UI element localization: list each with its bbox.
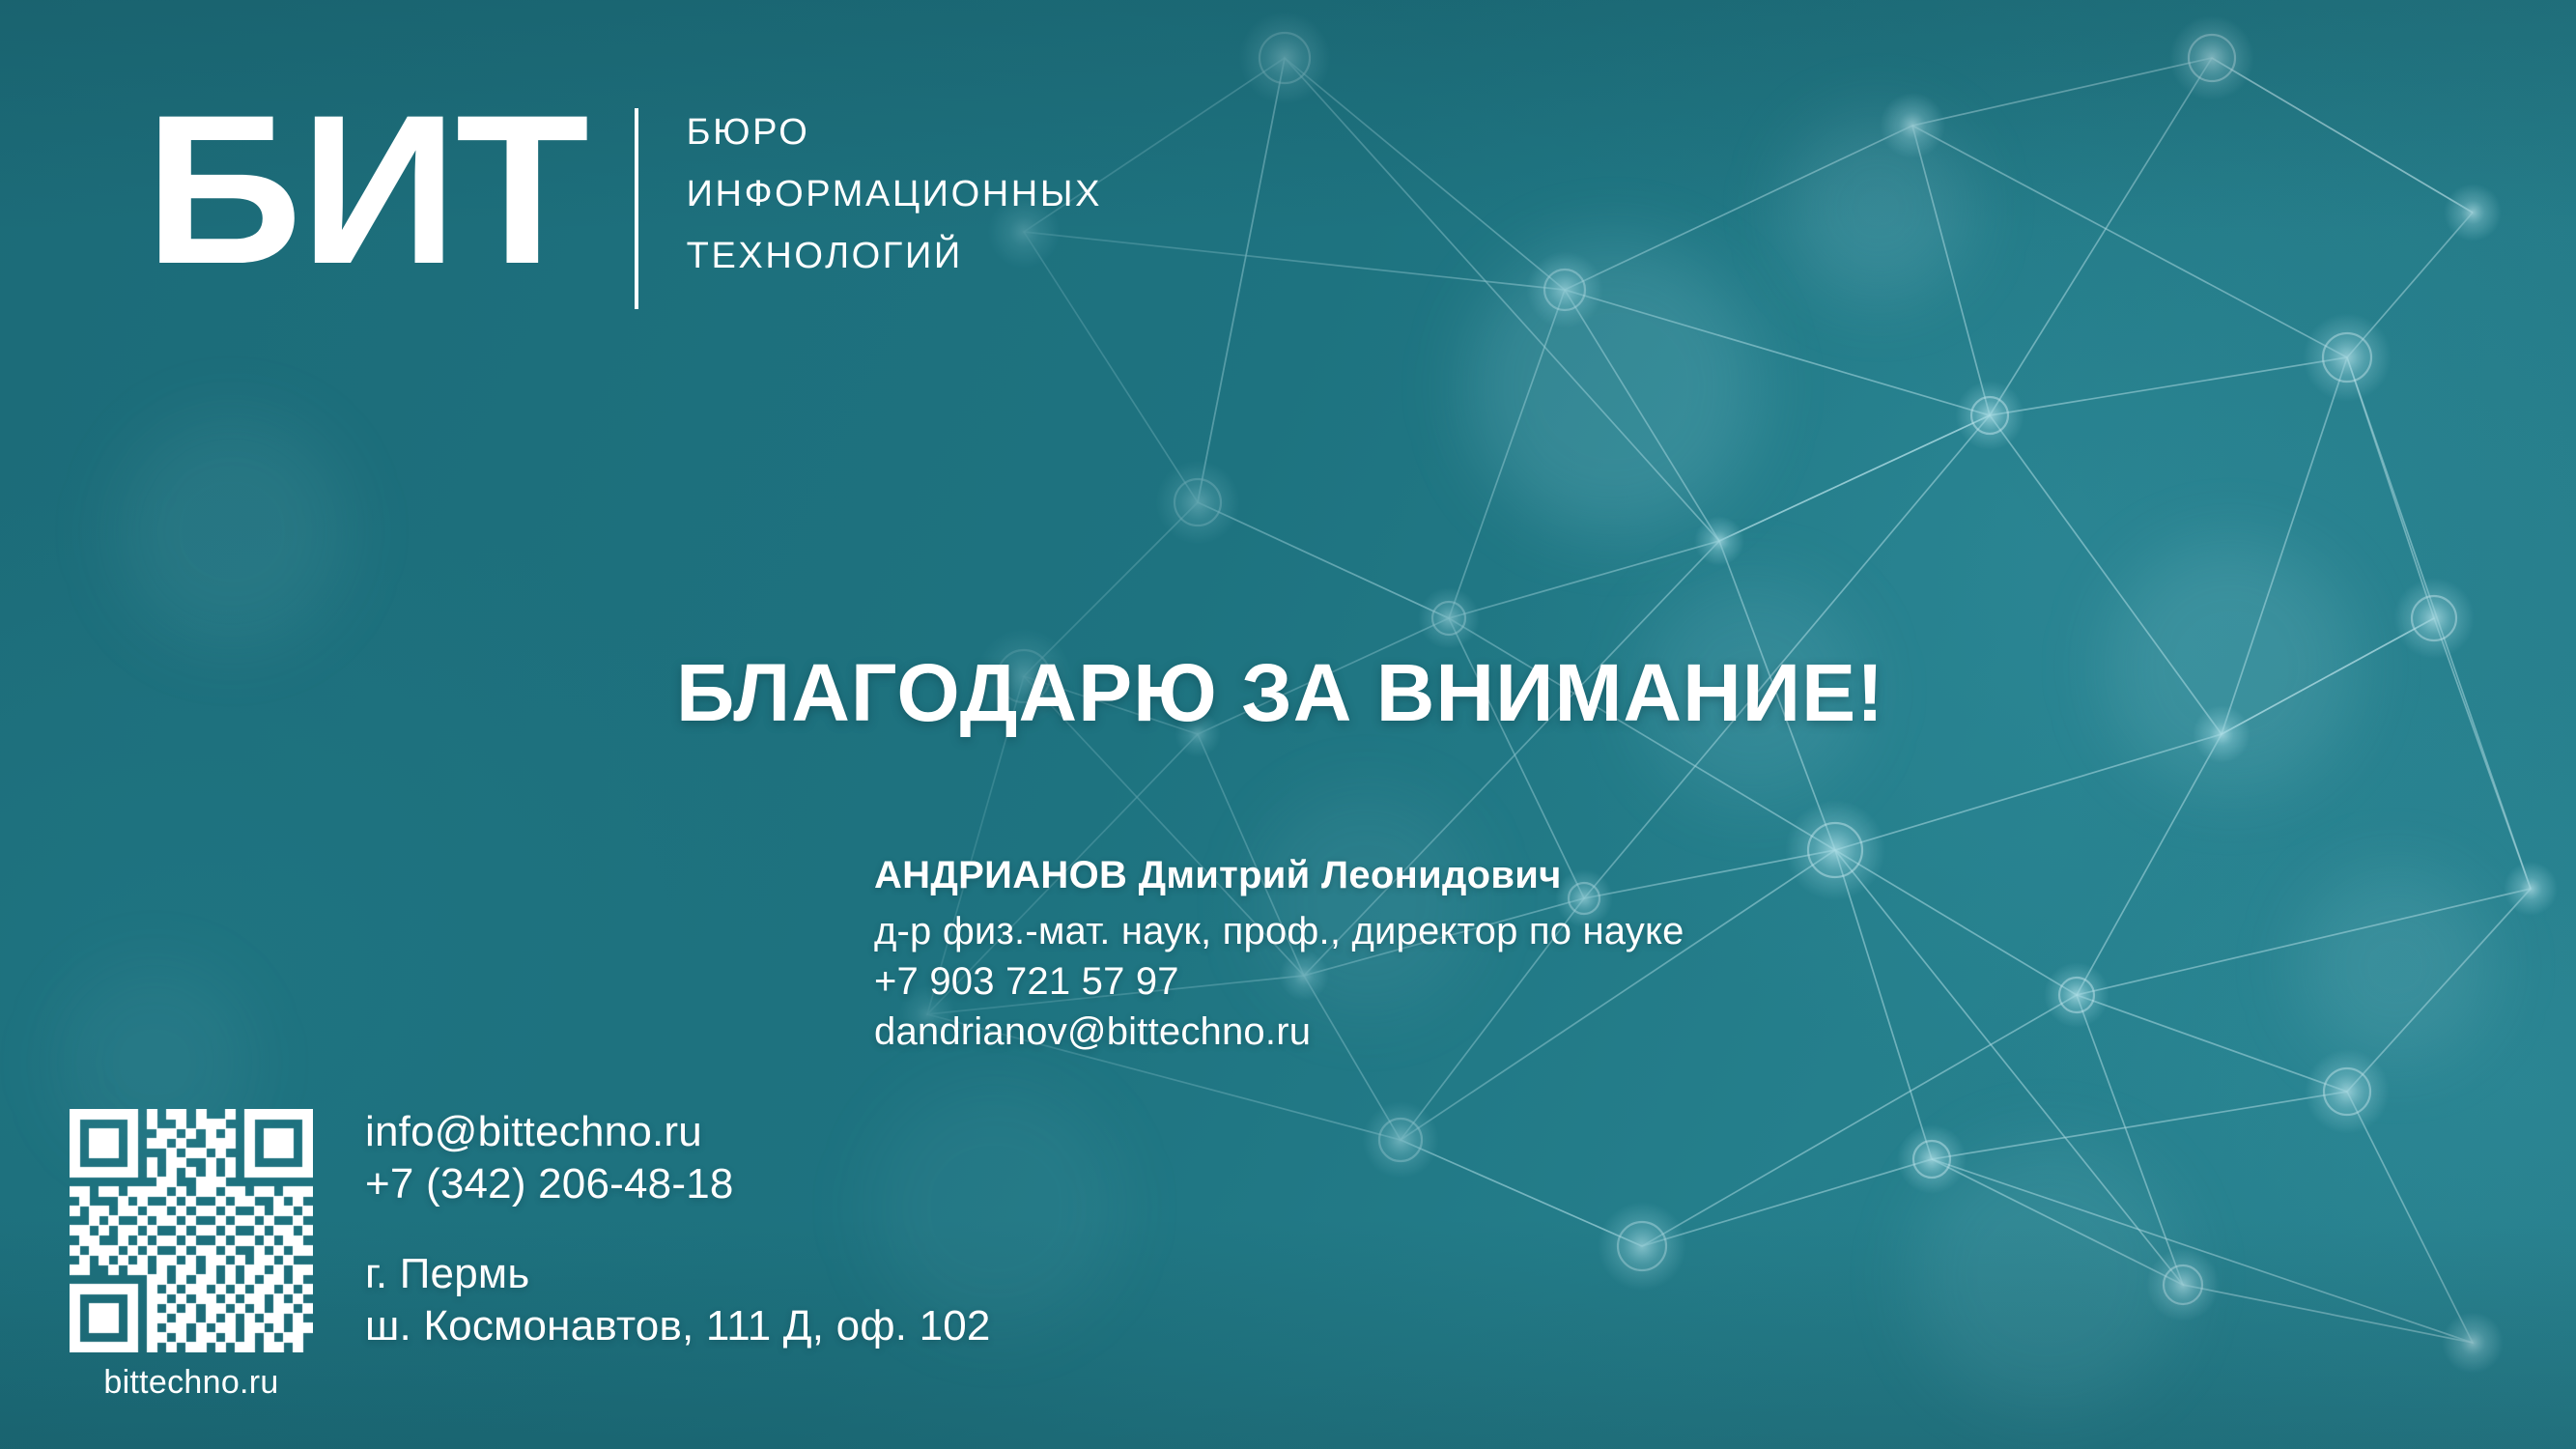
logo-divider-rule [635, 108, 638, 309]
logo-tagline-line-3: ТЕХНОЛОГИЙ [687, 238, 1102, 274]
speaker-title: д-р физ.-мат. наук, проф., директор по н… [874, 906, 1684, 956]
speaker-contact-block: АНДРИАНОВ Дмитрий Леонидович д-р физ.-ма… [874, 850, 1684, 1057]
contact-spacer [365, 1209, 991, 1248]
speaker-name: АНДРИАНОВ Дмитрий Леонидович [874, 850, 1684, 900]
presentation-slide: БИТ БЮРО ИНФОРМАЦИОННЫХ ТЕХНОЛОГИЙ БЛАГО… [0, 0, 2576, 1449]
qr-code-block[interactable]: bittechno.ru [70, 1109, 313, 1402]
logo-tagline-line-1: БЮРО [687, 114, 1102, 151]
company-logo: БИТ БЮРО ИНФОРМАЦИОННЫХ ТЕХНОЛОГИЙ [145, 104, 1102, 309]
qr-code-image[interactable] [70, 1109, 313, 1352]
qr-code-caption: bittechno.ru [70, 1364, 313, 1402]
speaker-email[interactable]: dandrianov@bittechno.ru [874, 1007, 1684, 1057]
company-city: г. Пермь [365, 1248, 991, 1300]
logo-tagline: БЮРО ИНФОРМАЦИОННЫХ ТЕХНОЛОГИЙ [687, 114, 1102, 274]
company-contact-block: info@bittechno.ru +7 (342) 206-48-18 г. … [365, 1106, 991, 1352]
company-address: ш. Космонавтов, 111 Д, оф. 102 [365, 1300, 991, 1352]
company-email[interactable]: info@bittechno.ru [365, 1106, 991, 1158]
company-phone[interactable]: +7 (342) 206-48-18 [365, 1158, 991, 1210]
logo-tagline-line-2: ИНФОРМАЦИОННЫХ [687, 176, 1102, 213]
company-contact-primary: info@bittechno.ru +7 (342) 206-48-18 [365, 1106, 991, 1209]
logo-wordmark: БИТ [145, 104, 587, 274]
slide-headline: БЛАГОДАРЮ ЗА ВНИМАНИЕ! [676, 652, 1884, 733]
speaker-phone[interactable]: +7 903 721 57 97 [874, 956, 1684, 1007]
company-address-group: г. Пермь ш. Космонавтов, 111 Д, оф. 102 [365, 1248, 991, 1351]
